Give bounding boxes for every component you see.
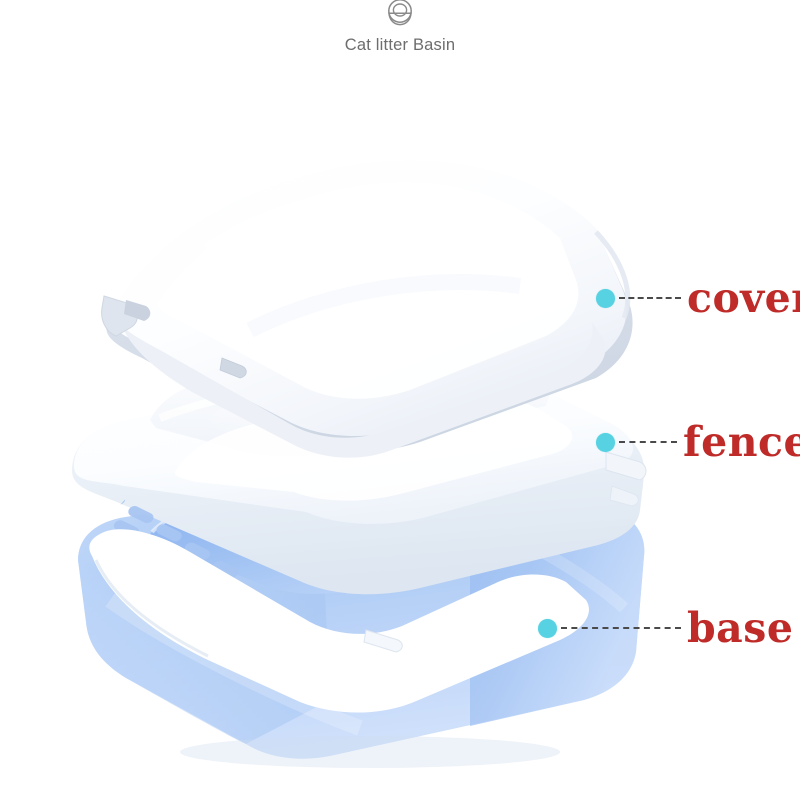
- callout-line-base: [561, 627, 681, 629]
- callout-base[interactable]: base: [538, 613, 793, 643]
- callout-line-cover: [619, 297, 681, 299]
- callout-label-fence: fence: [683, 422, 800, 463]
- callout-label-cover: cover: [687, 278, 800, 319]
- callout-cover[interactable]: cover: [596, 283, 800, 313]
- callout-label-base: base: [687, 608, 793, 649]
- callout-dot-cover: [596, 289, 615, 308]
- callout-fence[interactable]: fence: [596, 427, 800, 457]
- callout-dot-fence: [596, 433, 615, 452]
- callout-dot-base: [538, 619, 557, 638]
- product-illustration: [0, 0, 800, 800]
- product-infographic: Cat litter Basin: [0, 0, 800, 800]
- callout-line-fence: [619, 441, 677, 443]
